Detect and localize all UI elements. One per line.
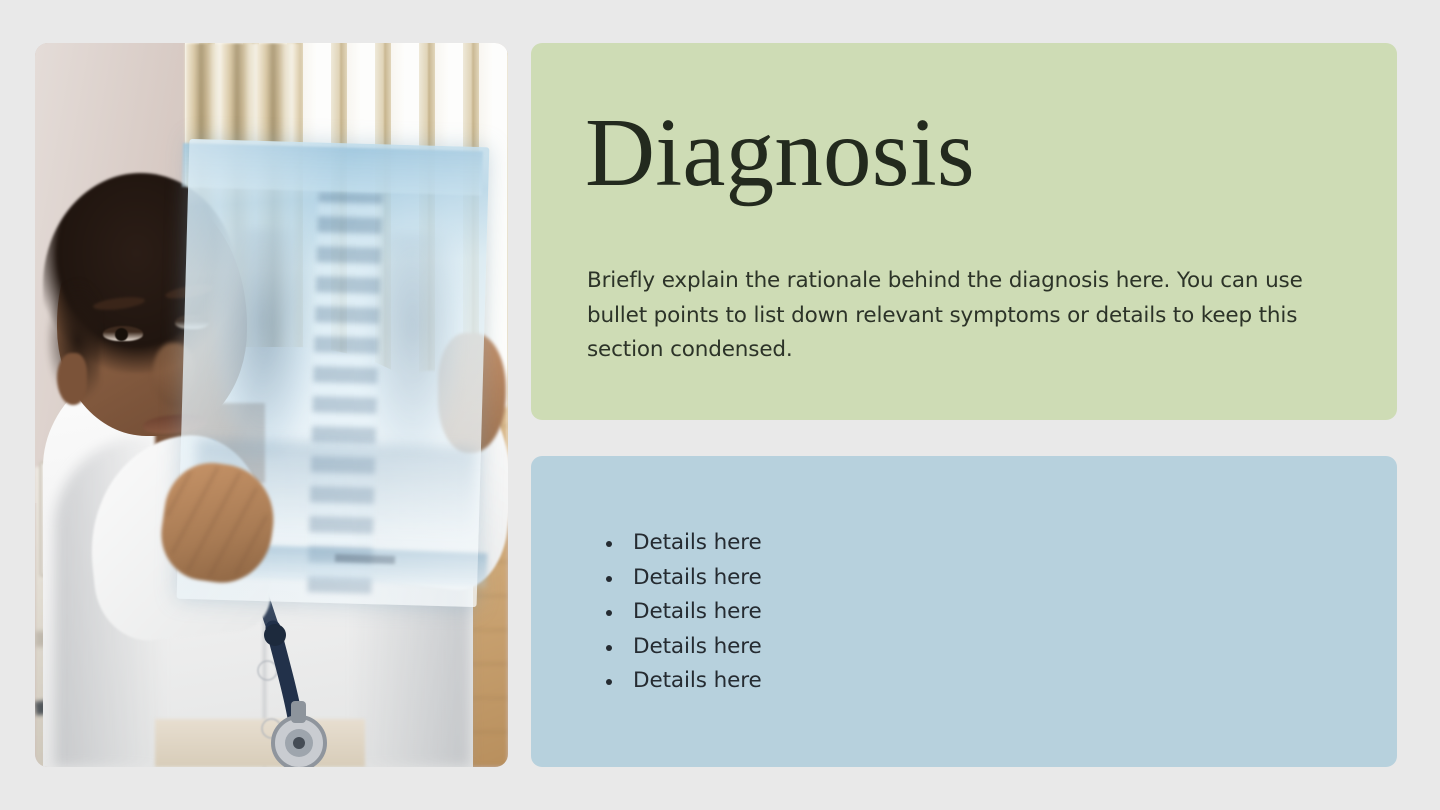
- doctor-fingers: [167, 467, 267, 577]
- doctor-ear: [57, 353, 87, 405]
- diagnosis-description: Briefly explain the rationale behind the…: [587, 264, 1332, 368]
- photo-scene: [35, 43, 508, 767]
- list-item: Details here: [605, 526, 762, 561]
- diagnosis-content-panel: Diagnosis Briefly explain the rationale …: [531, 43, 1397, 420]
- details-bullet-list: Details here Details here Details here D…: [605, 526, 762, 699]
- list-item: Details here: [605, 630, 762, 665]
- doctor-pupil-left: [115, 328, 128, 341]
- slide-canvas: Diagnosis Briefly explain the rationale …: [0, 0, 1440, 810]
- details-panel: Details here Details here Details here D…: [531, 456, 1397, 767]
- list-item: Details here: [605, 664, 762, 699]
- lab-coat-button: [261, 718, 282, 739]
- page-title: Diagnosis: [585, 104, 975, 201]
- list-item: Details here: [605, 561, 762, 596]
- doctor-xray-photo: [35, 43, 508, 767]
- list-item: Details here: [605, 595, 762, 630]
- doctor-belt: [155, 719, 365, 767]
- lab-coat-button: [257, 660, 278, 681]
